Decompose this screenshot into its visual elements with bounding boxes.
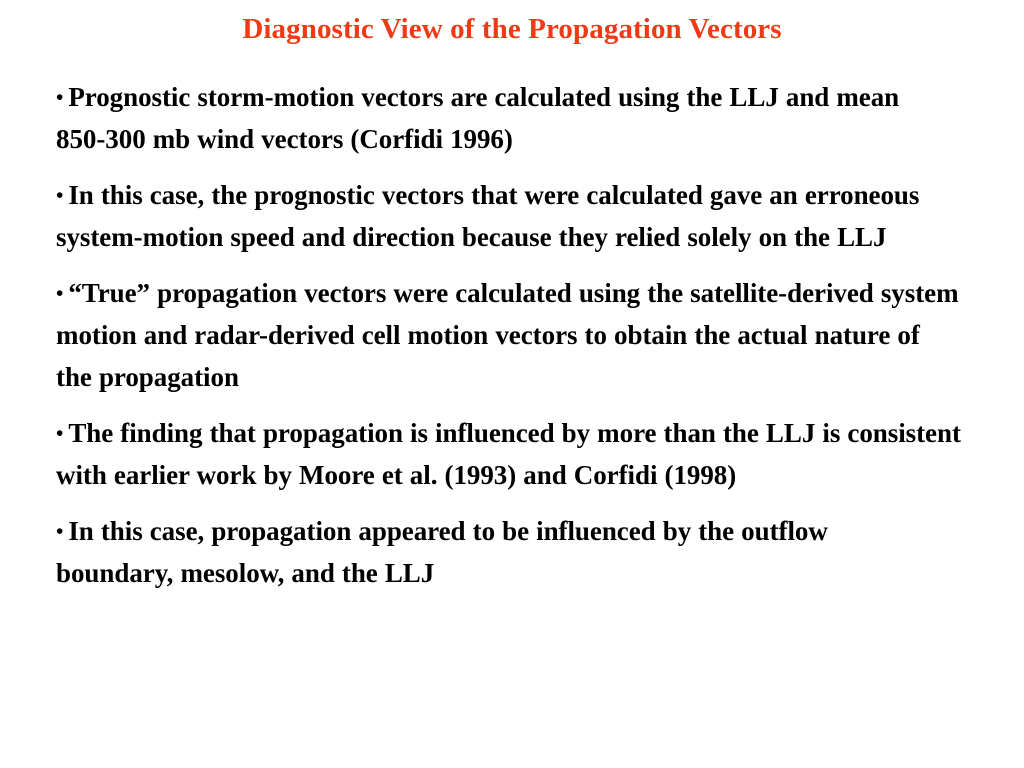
bullet-dot-icon: • bbox=[56, 421, 68, 445]
presentation-slide: Diagnostic View of the Propagation Vecto… bbox=[0, 0, 1024, 768]
bullet-item: •The finding that propagation is influen… bbox=[56, 412, 962, 496]
bullet-text: In this case, the prognostic vectors tha… bbox=[56, 180, 919, 252]
bullet-dot-icon: • bbox=[56, 281, 68, 305]
bullet-dot-icon: • bbox=[56, 519, 68, 543]
bullet-item: •“True” propagation vectors were calcula… bbox=[56, 272, 962, 398]
bullet-text: Prognostic storm-motion vectors are calc… bbox=[56, 82, 899, 154]
bullet-item: •In this case, the prognostic vectors th… bbox=[56, 174, 968, 258]
bullet-text: In this case, propagation appeared to be… bbox=[56, 516, 828, 588]
bullet-text: “True” propagation vectors were calculat… bbox=[56, 278, 959, 392]
page-title: Diagnostic View of the Propagation Vecto… bbox=[0, 12, 1024, 46]
bullet-item: •In this case, propagation appeared to b… bbox=[56, 510, 946, 594]
slide-body: •Prognostic storm-motion vectors are cal… bbox=[56, 76, 972, 594]
bullet-text: The finding that propagation is influenc… bbox=[56, 418, 961, 490]
bullet-item: •Prognostic storm-motion vectors are cal… bbox=[56, 76, 936, 160]
bullet-dot-icon: • bbox=[56, 183, 68, 207]
bullet-dot-icon: • bbox=[56, 85, 68, 109]
